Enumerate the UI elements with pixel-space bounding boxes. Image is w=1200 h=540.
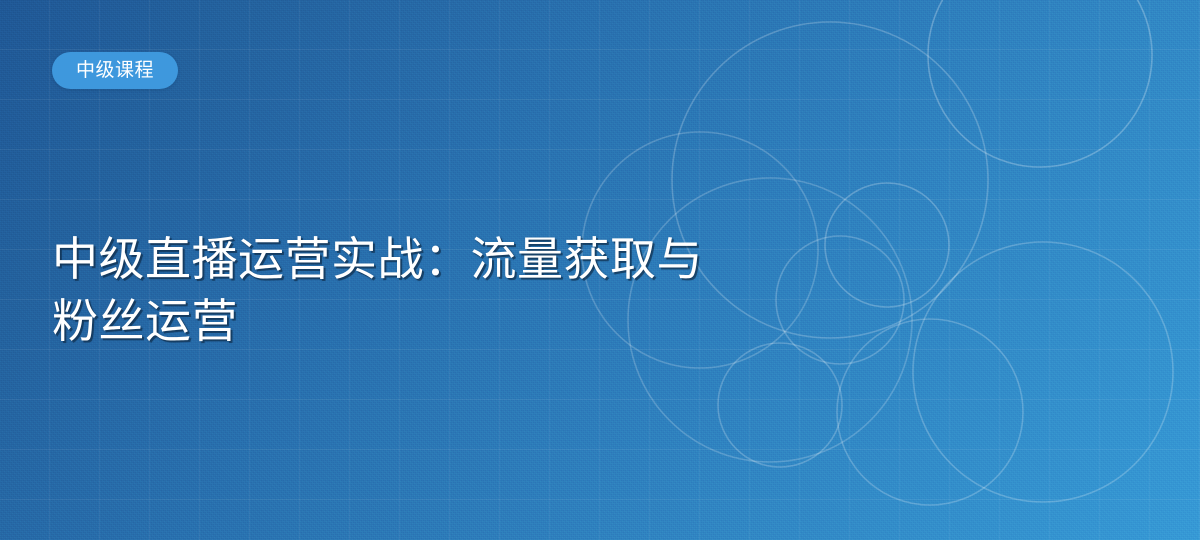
- course-title: 中级直播运营实战：流量获取与 粉丝运营: [52, 228, 852, 352]
- course-title-card: 中级课程 中级直播运营实战：流量获取与 粉丝运营: [0, 0, 1200, 540]
- slide-content: 中级课程 中级直播运营实战：流量获取与 粉丝运营: [0, 0, 1200, 540]
- course-title-line-1: 中级直播运营实战：流量获取与: [52, 228, 852, 290]
- course-level-badge: 中级课程: [52, 52, 178, 89]
- course-level-badge-label: 中级课程: [76, 61, 154, 80]
- course-title-line-2: 粉丝运营: [52, 290, 852, 352]
